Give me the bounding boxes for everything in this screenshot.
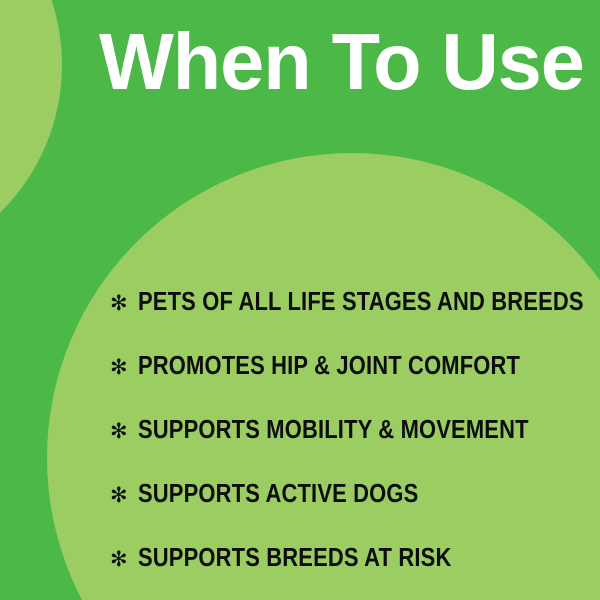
list-item-label: SUPPORTS MOBILITY & MOVEMENT <box>138 418 529 444</box>
page-title: When To Use <box>99 14 574 110</box>
list-item-label: PETS OF ALL LIFE STAGES AND BREEDS <box>138 290 584 316</box>
benefit-list: ✻ PETS OF ALL LIFE STAGES AND BREEDS ✻ P… <box>110 271 590 591</box>
list-item: ✻ SUPPORTS BREEDS AT RISK <box>110 527 590 591</box>
list-item: ✻ SUPPORTS MOBILITY & MOVEMENT <box>110 399 590 463</box>
list-item-label: SUPPORTS BREEDS AT RISK <box>138 546 451 572</box>
list-item-label: SUPPORTS ACTIVE DOGS <box>138 482 418 508</box>
asterisk-flower-bullet-icon: ✻ <box>110 421 138 442</box>
asterisk-flower-bullet-icon: ✻ <box>110 293 138 314</box>
list-item-label: PROMOTES HIP & JOINT COMFORT <box>138 354 520 380</box>
asterisk-flower-bullet-icon: ✻ <box>110 485 138 506</box>
list-item: ✻ PETS OF ALL LIFE STAGES AND BREEDS <box>110 271 590 335</box>
asterisk-flower-bullet-icon: ✻ <box>110 357 138 378</box>
promo-poster: When To Use ✻ PETS OF ALL LIFE STAGES AN… <box>0 0 600 600</box>
list-item: ✻ PROMOTES HIP & JOINT COMFORT <box>110 335 590 399</box>
asterisk-flower-bullet-icon: ✻ <box>110 549 138 570</box>
list-item: ✻ SUPPORTS ACTIVE DOGS <box>110 463 590 527</box>
